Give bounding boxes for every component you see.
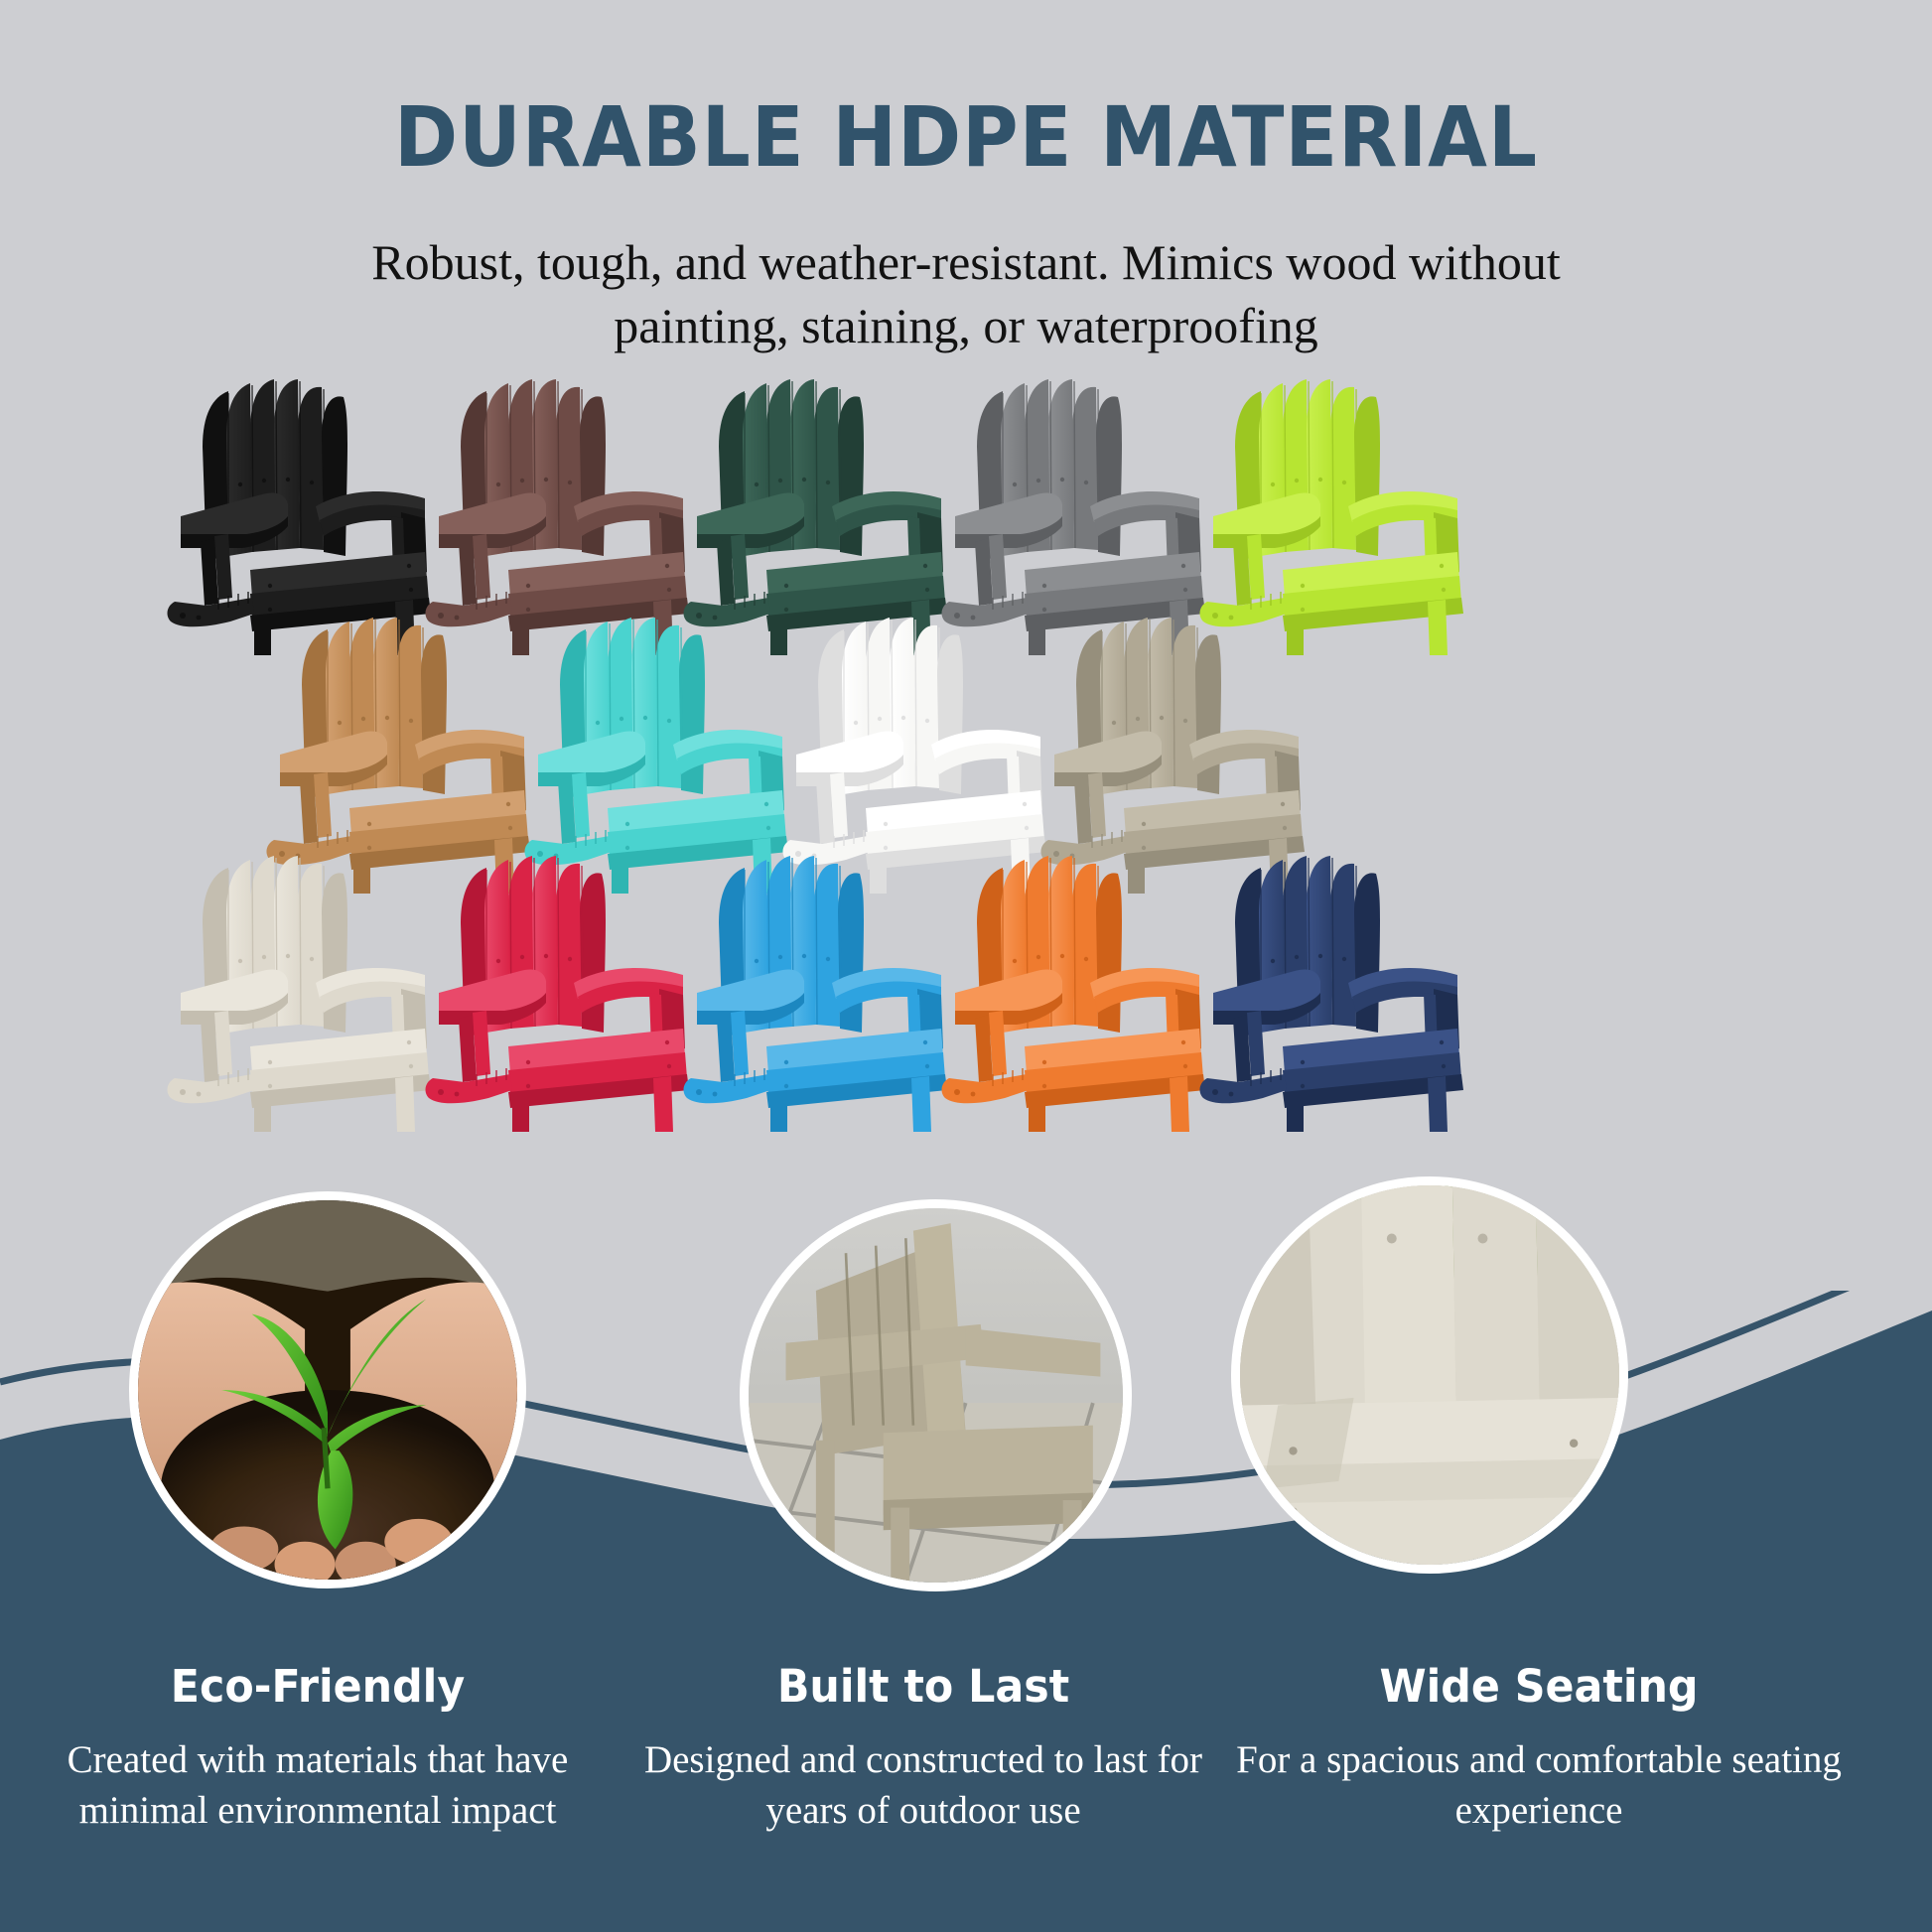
feature-heading: Wide Seating bbox=[1247, 1660, 1832, 1713]
feature-block-wide-seating: Wide Seating For a spacious and comforta… bbox=[1231, 1660, 1847, 1837]
feature-description: Designed and constructed to last for yea… bbox=[635, 1734, 1211, 1837]
chair-illustration bbox=[417, 844, 715, 1132]
chair-row-1 bbox=[0, 367, 1932, 645]
feature-photo-wide-seating bbox=[1231, 1176, 1628, 1574]
chair-swatch-ivory[interactable] bbox=[159, 844, 457, 1142]
feature-photo-eco-friendly bbox=[129, 1191, 526, 1588]
chair-row-3 bbox=[0, 844, 1932, 1122]
infographic-canvas: DURABLE HDPE MATERIAL Robust, tough, and… bbox=[0, 0, 1932, 1932]
feature-heading: Built to Last bbox=[650, 1660, 1197, 1713]
chair-swatch-red[interactable] bbox=[417, 844, 715, 1142]
chair-illustration bbox=[675, 844, 973, 1132]
chair-illustration bbox=[159, 844, 457, 1132]
chair-swatch-orange[interactable] bbox=[933, 844, 1231, 1142]
chair-swatch-light-blue[interactable] bbox=[675, 844, 973, 1142]
chair-row-2 bbox=[0, 606, 1932, 884]
chair-illustration bbox=[1191, 844, 1489, 1132]
feature-description: For a spacious and comfortable seating e… bbox=[1231, 1734, 1847, 1837]
chair-swatch-navy[interactable] bbox=[1191, 844, 1489, 1142]
feature-block-built-to-last: Built to Last Designed and constructed t… bbox=[635, 1660, 1211, 1837]
feature-description: Created with materials that have minimal… bbox=[20, 1734, 616, 1837]
chair-illustration bbox=[933, 844, 1231, 1132]
page-subtitle: Robust, tough, and weather-resistant. Mi… bbox=[301, 230, 1631, 357]
feature-photo-built-to-last bbox=[740, 1199, 1132, 1591]
feature-heading: Eco-Friendly bbox=[35, 1660, 601, 1713]
chair-color-grid bbox=[0, 367, 1932, 1241]
page-title: DURABLE HDPE MATERIAL bbox=[77, 95, 1855, 179]
feature-block-eco-friendly: Eco-Friendly Created with materials that… bbox=[20, 1660, 616, 1837]
